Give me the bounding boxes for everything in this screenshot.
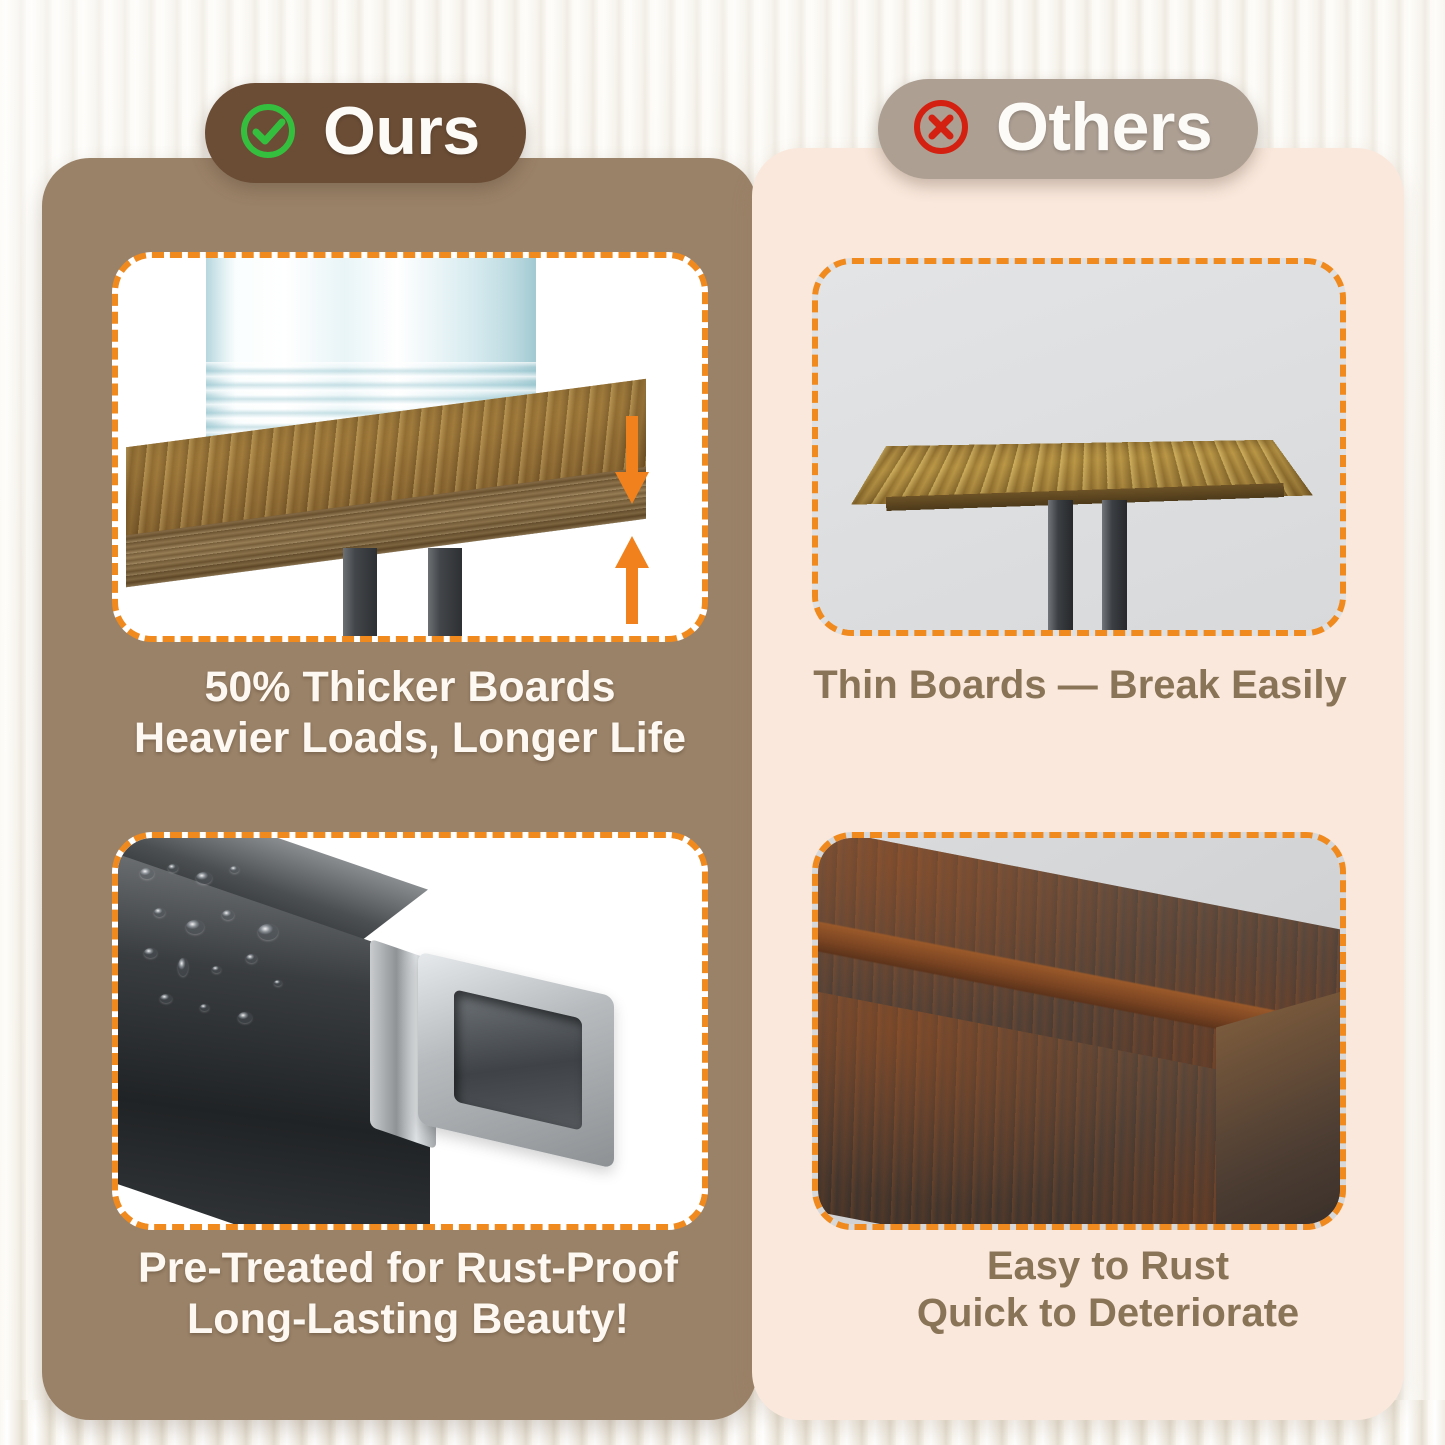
table-leg-right: [428, 548, 462, 636]
caption-line-1: Easy to Rust: [848, 1243, 1368, 1290]
ours-coated-tube-photo: [112, 832, 708, 1230]
thick-board-scene: [118, 258, 702, 636]
others-thin-board-caption: Thin Boards — Break Easily: [802, 662, 1358, 709]
others-badge-label: Others: [996, 93, 1212, 161]
ours-thick-board-caption: 50% Thicker Boards Heavier Loads, Longer…: [112, 662, 708, 763]
coated-tube-scene: [118, 838, 702, 1224]
table-leg-left: [343, 548, 377, 636]
others-thin-board-photo: [812, 258, 1346, 636]
water-droplets-group: [134, 862, 374, 1082]
caption-line-1: Thin Boards — Break Easily: [802, 662, 1358, 709]
ours-thick-board-photo: [112, 252, 708, 642]
ours-rust-proof-caption: Pre-Treated for Rust-Proof Long-Lasting …: [108, 1243, 708, 1344]
thickness-arrow-down-icon: [615, 416, 649, 504]
thin-table-leg-right: [1102, 500, 1127, 630]
thin-table-leg-left: [1048, 500, 1073, 630]
others-rusted-beam-photo: [812, 832, 1346, 1230]
caption-line-2: Heavier Loads, Longer Life: [112, 713, 708, 764]
ours-badge-label: Ours: [323, 97, 480, 165]
rusted-beam-scene: [818, 838, 1340, 1224]
caption-line-1: Pre-Treated for Rust-Proof: [108, 1243, 708, 1294]
x-circle-icon: [912, 98, 970, 156]
others-badge: Others: [878, 79, 1258, 179]
caption-line-2: Quick to Deteriorate: [848, 1290, 1368, 1337]
infographic-canvas: 50% Thicker Boards Heavier Loads, Longer…: [0, 0, 1445, 1445]
caption-line-2: Long-Lasting Beauty!: [108, 1294, 708, 1345]
thickness-arrow-up-icon: [615, 536, 649, 624]
others-rust-caption: Easy to Rust Quick to Deteriorate: [848, 1243, 1368, 1337]
caption-line-1: 50% Thicker Boards: [112, 662, 708, 713]
thin-board-scene: [818, 264, 1340, 630]
ours-badge: Ours: [205, 83, 526, 183]
check-circle-icon: [239, 102, 297, 160]
